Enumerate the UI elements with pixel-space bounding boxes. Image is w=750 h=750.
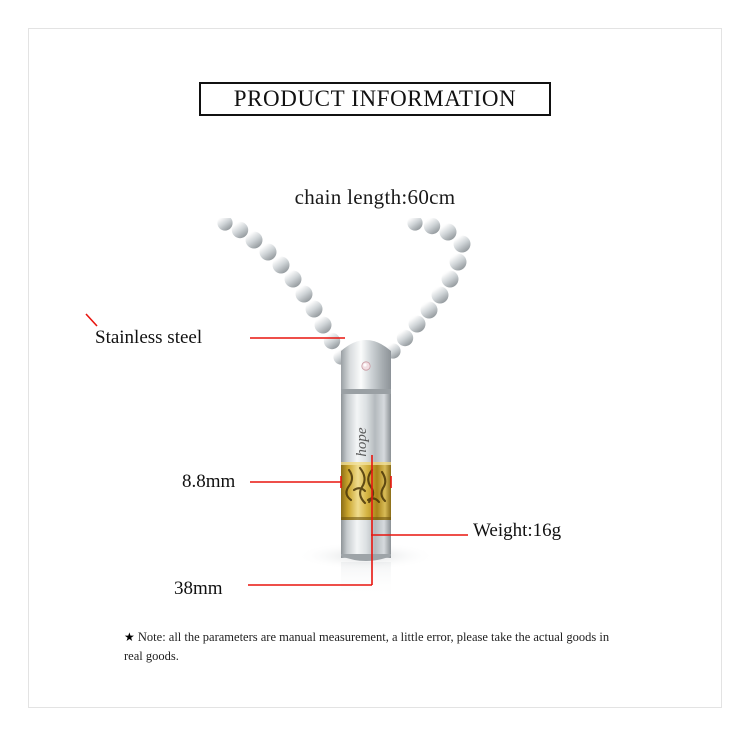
page-title-box: PRODUCT INFORMATION bbox=[199, 82, 551, 116]
diameter-label: 8.8mm bbox=[182, 471, 235, 493]
product-information-page: PRODUCT INFORMATION chain length:60cm bbox=[0, 0, 750, 750]
note-text: Note: all the parameters are manual meas… bbox=[124, 630, 609, 663]
material-label: Stainless steel bbox=[95, 327, 202, 349]
svg-text:hope: hope bbox=[354, 427, 370, 457]
product-illustration: hope bbox=[210, 218, 540, 618]
weight-label: Weight:16g bbox=[473, 520, 561, 542]
chain-left bbox=[217, 218, 355, 377]
height-label: 38mm bbox=[174, 578, 223, 600]
chain-length-label: chain length:60cm bbox=[0, 185, 750, 210]
star-icon: ★ bbox=[124, 630, 135, 644]
product-photo: hope bbox=[210, 218, 540, 618]
chain-right bbox=[375, 218, 470, 370]
pendant-body: hope bbox=[296, 340, 436, 598]
page-title: PRODUCT INFORMATION bbox=[234, 86, 517, 112]
note-block: ★ Note: all the parameters are manual me… bbox=[124, 628, 624, 667]
reflection bbox=[341, 562, 391, 598]
